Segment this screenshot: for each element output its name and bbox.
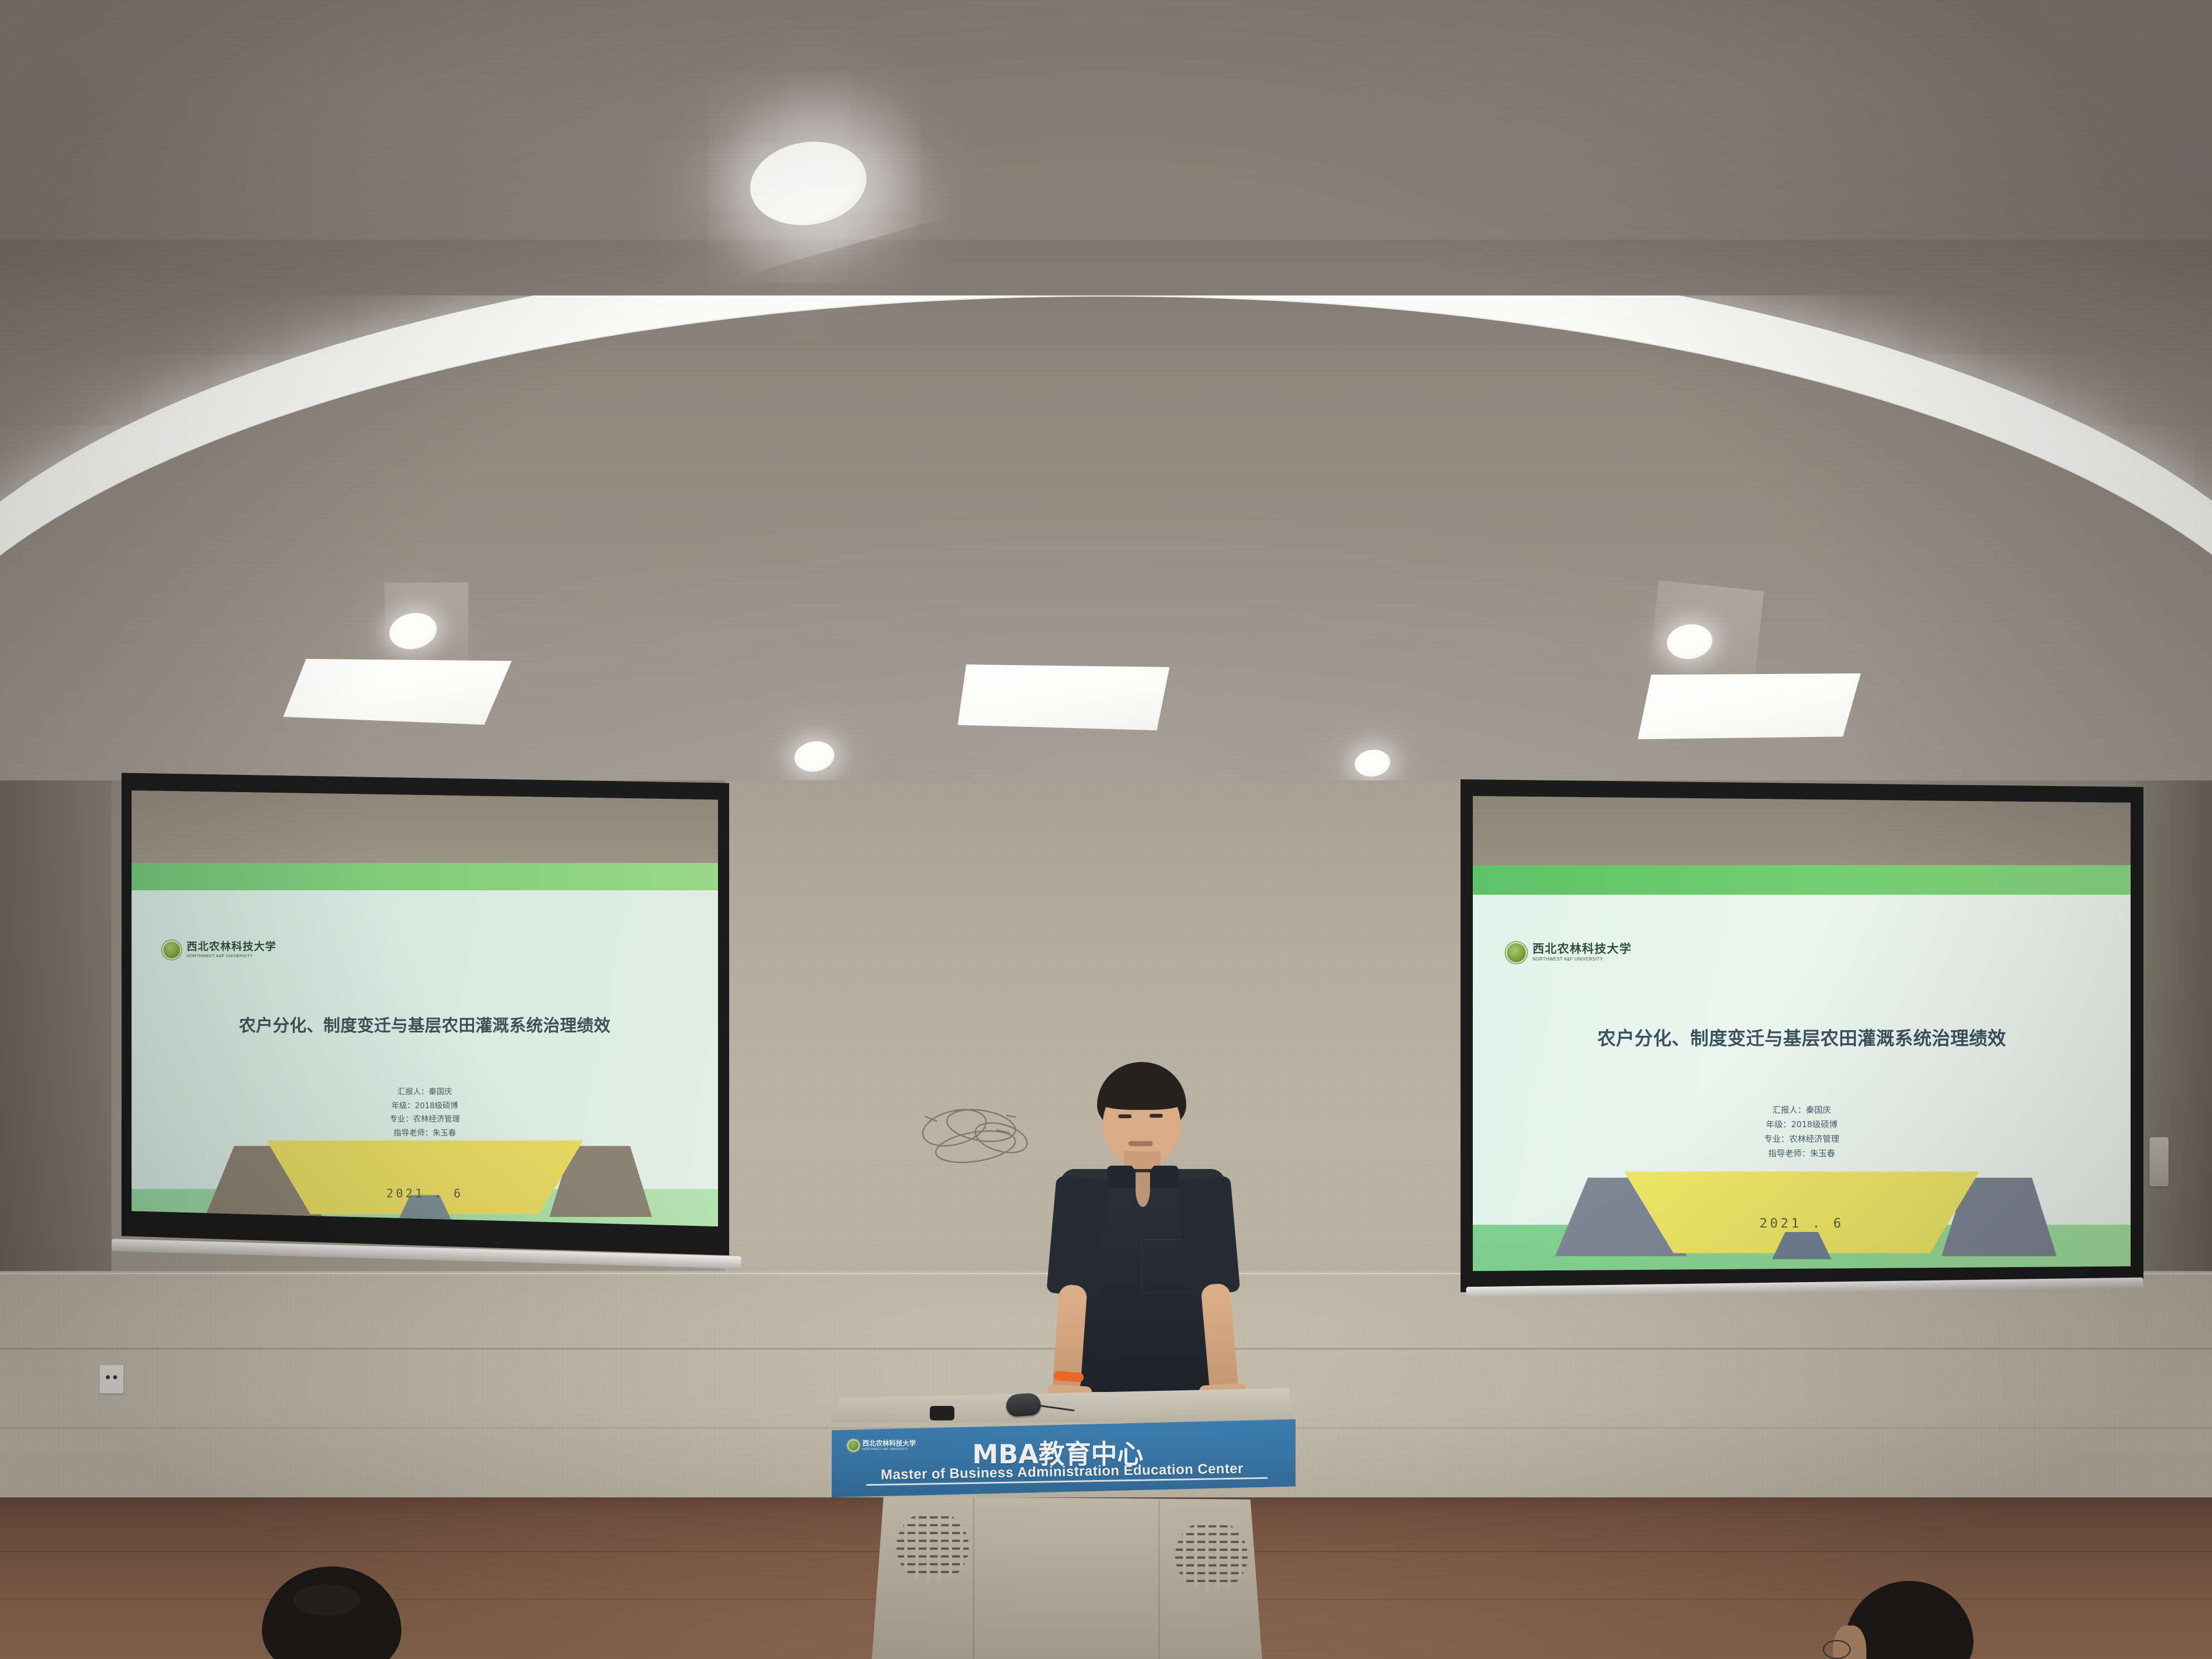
podium-sign: 西北农林科技大学 NORTHWEST A&F UNIVERSITY MBA教育中… xyxy=(832,1419,1296,1497)
slide-logo-cn: 西北农林科技大学 xyxy=(187,942,276,952)
glasses-icon xyxy=(1823,1640,1851,1659)
slide-meta: 汇报人：秦国庆 年级：2018级硕博 专业：农林经济管理 指导老师：朱玉春 xyxy=(1473,1103,2131,1161)
slide-title: 农户分化、制度变迁与基层农田灌溉系统治理绩效 xyxy=(132,1012,718,1036)
presenter-pocket xyxy=(1142,1239,1189,1293)
podium-speaker-grille-right xyxy=(1175,1520,1248,1592)
slide-university-logo: 西北农林科技大学 NORTHWEST A&F UNIVERSITY xyxy=(1506,942,1632,963)
slide-university-logo: 西北农林科技大学 NORTHWEST A&F UNIVERSITY xyxy=(162,940,276,959)
slide-logo-en: NORTHWEST A&F UNIVERSITY xyxy=(187,954,276,958)
podium-panel-seam-left xyxy=(973,1497,974,1659)
university-seal-icon xyxy=(847,1439,860,1452)
slide-date: 2021 . 6 xyxy=(132,1187,718,1200)
presenter-sleeve-left xyxy=(1046,1176,1110,1297)
slide-date: 2021 . 6 xyxy=(1473,1216,2131,1231)
slide-title: 农户分化、制度变迁与基层农田灌溉系统治理绩效 xyxy=(1473,1023,2131,1050)
left-projection-screen[interactable]: 西北农林科技大学 NORTHWEST A&F UNIVERSITY 农户分化、制… xyxy=(122,770,729,1255)
slide-meta-line: 指导老师：朱玉春 xyxy=(1473,1146,2131,1161)
lecture-hall-photo: 西北农林科技大学 NORTHWEST A&F UNIVERSITY 农户分化、制… xyxy=(0,0,2212,1659)
presenter-sleeve-right xyxy=(1177,1176,1240,1296)
slide-logo-en: NORTHWEST A&F UNIVERSITY xyxy=(1532,957,1632,962)
presenter-eye-left xyxy=(1118,1114,1132,1118)
audience-hair-highlight xyxy=(293,1584,360,1616)
left-slide: 西北农林科技大学 NORTHWEST A&F UNIVERSITY 农户分化、制… xyxy=(132,790,718,1231)
slide-meta-line: 专业：农林经济管理 xyxy=(132,1113,718,1127)
slide-logo-cn: 西北农林科技大学 xyxy=(1532,943,1632,955)
podium-logo-cn: 西北农林科技大学 xyxy=(862,1440,916,1447)
slide-top-band xyxy=(132,863,718,890)
slide-meta: 汇报人：秦国庆 年级：2018级硕博 专业：农林经济管理 指导老师：朱玉春 xyxy=(132,1085,718,1140)
panel-light-3 xyxy=(1638,673,1861,739)
university-seal-icon xyxy=(1506,942,1527,963)
slide-meta-line: 指导老师：朱玉春 xyxy=(132,1127,718,1141)
slide-meta-line: 年级：2018级硕博 xyxy=(1473,1117,2131,1132)
panel-light-2 xyxy=(958,664,1170,730)
power-outlet xyxy=(99,1365,124,1394)
slide-meta-line: 汇报人：秦国庆 xyxy=(1473,1103,2131,1117)
presenter-placket xyxy=(1136,1172,1150,1207)
podium-sign-logo: 西北农林科技大学 NORTHWEST A&F UNIVERSITY xyxy=(847,1439,916,1452)
presentation-clicker[interactable] xyxy=(930,1406,954,1420)
slide-meta-line: 年级：2018级硕博 xyxy=(132,1099,718,1113)
audience-member-right xyxy=(1812,1578,1996,1659)
slide-meta-line: 专业：农林经济管理 xyxy=(1473,1132,2131,1146)
right-wall-return xyxy=(2135,780,2212,1282)
presenter-mouth xyxy=(1128,1141,1153,1146)
podium-panel-seam-right xyxy=(1158,1500,1160,1659)
slide-meta-line: 汇报人：秦国庆 xyxy=(132,1085,718,1099)
presenter-eye-right xyxy=(1149,1114,1163,1118)
left-wall-return xyxy=(0,780,111,1282)
wall-mounted-fixture xyxy=(2150,1137,2169,1186)
audience-member-left xyxy=(240,1561,424,1659)
podium-logo-en: NORTHWEST A&F UNIVERSITY xyxy=(862,1448,916,1452)
right-slide: 西北农林科技大学 NORTHWEST A&F UNIVERSITY 农户分化、制… xyxy=(1473,796,2131,1271)
university-seal-icon xyxy=(162,940,181,959)
slide-canal-graphic xyxy=(132,1135,718,1231)
panel-light-1 xyxy=(283,659,512,725)
podium-speaker-grille-left xyxy=(896,1511,969,1583)
right-projection-screen[interactable]: 西北农林科技大学 NORTHWEST A&F UNIVERSITY 农户分化、制… xyxy=(1461,779,2143,1292)
slide-top-band xyxy=(1473,865,2131,895)
